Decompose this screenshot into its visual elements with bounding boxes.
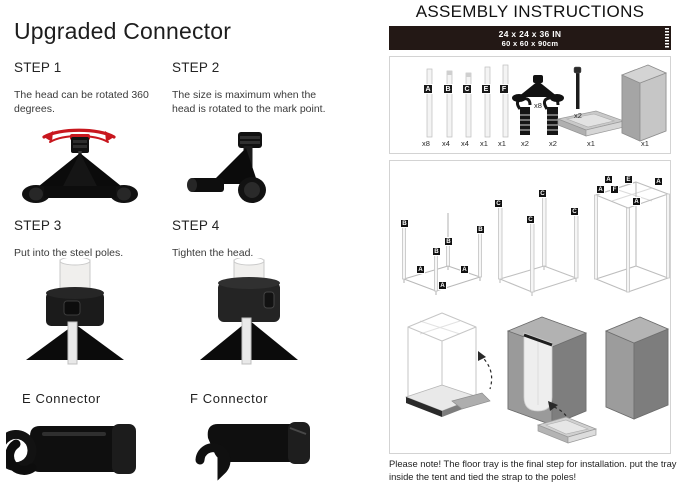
stage2-label-c4: C	[570, 207, 579, 216]
part-count-cover: x1	[634, 139, 656, 148]
stage1-label-a2: A	[460, 265, 469, 274]
stage-4-arrow	[480, 355, 492, 389]
step-2-figure-connector-rotated	[176, 128, 306, 210]
stage1-label-b2: B	[444, 237, 453, 246]
dimension-metric: 60 x 60 x 90cm	[502, 39, 559, 48]
stage-3-poles	[595, 194, 670, 292]
stage-5-cover-with-door	[508, 317, 596, 443]
step-4-heading: STEP 4	[172, 218, 219, 233]
stage-4-tray-into-frame	[406, 313, 492, 417]
e-connector-label: E Connector	[22, 391, 101, 406]
stage1-label-b4: B	[432, 247, 441, 256]
step-3-figure-connector-on-pole	[16, 258, 136, 368]
f-connector-hook	[200, 448, 226, 470]
stage3-label-a1: A	[604, 175, 613, 184]
pole-group	[427, 65, 508, 137]
part-letter-e: E	[481, 84, 491, 94]
stage1-label-b1: B	[400, 219, 409, 228]
left-panel-upgraded-connector: Upgraded Connector STEP 1 The head can b…	[0, 0, 360, 491]
e-connector-cap	[112, 424, 136, 474]
right-panel-assembly-instructions: ASSEMBLY INSTRUCTIONS 24 x 24 x 36 IN 60…	[381, 0, 679, 491]
final-stages-illustration	[390, 301, 670, 447]
part-letter-f: F	[499, 84, 509, 94]
stage-2-upright-poles	[500, 266, 576, 296]
step-2-heading: STEP 2	[172, 60, 219, 75]
step-1-description: The head can be rotated 360 degrees.	[14, 88, 169, 116]
stage3-label-a4: A	[632, 197, 641, 206]
stage-6-closed-tent	[606, 317, 668, 419]
assembly-stages-box: B B B B A A A C C C C A A A A E F	[389, 160, 671, 454]
installation-note: Please note! The floor tray is the final…	[389, 458, 677, 483]
step-1-figure-tripod-connector	[14, 120, 154, 210]
cover-part	[622, 65, 666, 141]
part-letter-c: C	[462, 84, 472, 94]
step-1-heading: STEP 1	[14, 60, 61, 75]
part-count-hook-e: x2	[514, 139, 536, 148]
f-connector-figure	[178, 414, 328, 486]
stage-2-c-poles	[499, 191, 579, 292]
stage3-label-f: F	[610, 185, 619, 194]
assembly-title: ASSEMBLY INSTRUCTIONS	[381, 2, 679, 22]
stage1-label-a3: A	[438, 281, 447, 290]
step-2-description: The size is maximum when the head is rot…	[172, 88, 327, 116]
part-count-tray: x1	[580, 139, 602, 148]
part-count-strap: x2	[567, 111, 589, 120]
connector-head-top	[238, 132, 262, 148]
strap-part	[574, 67, 581, 109]
stage1-label-a1: A	[416, 265, 425, 274]
inner-pole	[242, 318, 251, 364]
inner-pole	[68, 322, 77, 364]
part-count-f: x1	[491, 139, 513, 148]
parts-list-box: A B C E F x8 x4 x4 x1 x1 x2 x2 x8 x2 x1 …	[389, 56, 671, 154]
dimension-bar: 24 x 24 x 36 IN 60 x 60 x 90cm	[389, 26, 671, 50]
instruction-sheet: Upgraded Connector STEP 1 The head can b…	[0, 0, 679, 491]
tripod-connector-part	[512, 75, 564, 102]
part-count-a: x8	[415, 139, 437, 148]
step-3-heading: STEP 3	[14, 218, 61, 233]
page-title: Upgraded Connector	[14, 18, 231, 45]
part-count-tripod-connector: x8	[527, 101, 549, 110]
stage2-label-c1: C	[494, 199, 503, 208]
part-letter-b: B	[443, 84, 453, 94]
step-4-figure-connector-tightened	[190, 258, 310, 368]
stage2-label-c2: C	[526, 215, 535, 224]
stage2-label-c3: C	[538, 189, 547, 198]
dimension-imperial: 24 x 24 x 36 IN	[499, 29, 562, 39]
part-letter-a: A	[423, 84, 433, 94]
e-connector-figure	[6, 414, 156, 482]
stage3-label-e: E	[624, 175, 633, 184]
stage3-label-a3: A	[654, 177, 663, 186]
dimension-bar-edge-stripe	[665, 28, 669, 48]
part-count-hook-f: x2	[542, 139, 564, 148]
stage1-label-b3: B	[476, 225, 485, 234]
stage3-label-a2: A	[596, 185, 605, 194]
f-connector-label: F Connector	[190, 391, 268, 406]
